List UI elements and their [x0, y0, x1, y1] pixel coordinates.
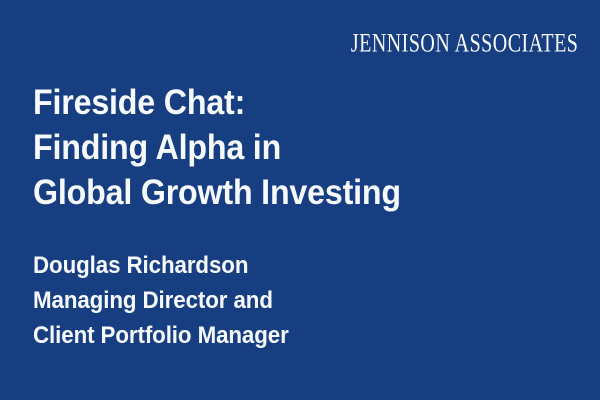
speaker-role-line-2: Client Portfolio Manager [33, 318, 535, 353]
brand-wordmark-text: JENNISON ASSOCIATES [351, 29, 579, 58]
slide-title: Fireside Chat: Finding Alpha in Global G… [33, 80, 573, 215]
speaker-role-line-1: Managing Director and [33, 283, 535, 318]
title-line-3: Global Growth Investing [33, 170, 530, 215]
speaker-info: Douglas Richardson Managing Director and… [33, 248, 573, 353]
title-line-2: Finding Alpha in [33, 125, 530, 170]
jennison-associates-logo: JENNISON ASSOCIATES [294, 29, 578, 57]
speaker-name: Douglas Richardson [33, 248, 535, 283]
title-line-1: Fireside Chat: [33, 80, 530, 125]
title-slide: JENNISON ASSOCIATES Fireside Chat: Findi… [0, 0, 600, 400]
